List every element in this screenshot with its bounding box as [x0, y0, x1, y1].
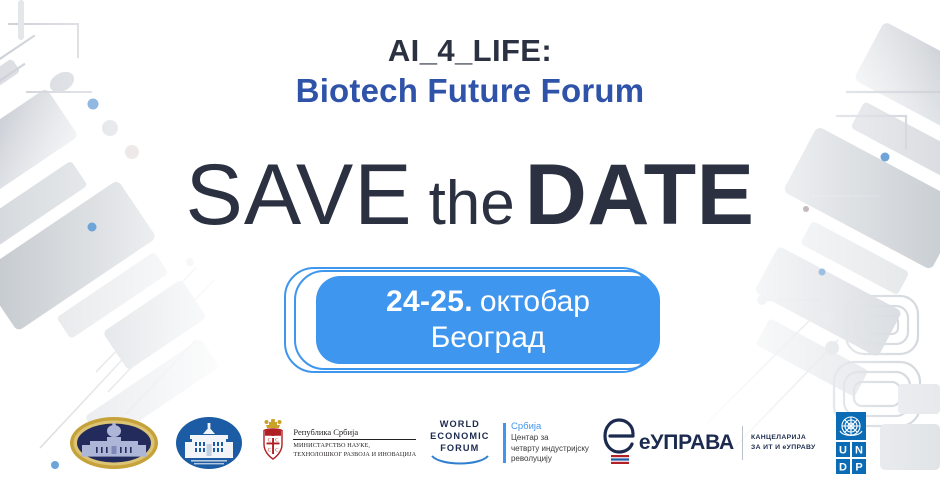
euprava-block: еУПРАВА КАНЦЕЛАРИЈА ЗА ИТ И еУПРАВУ [603, 418, 816, 468]
logo-government-building [174, 410, 244, 476]
logo-euprava: еУПРАВА КАНЦЕЛАРИЈА ЗА ИТ И еУПРАВУ [603, 410, 816, 476]
event-date-badge: 24-25.октобар Београд [284, 264, 664, 376]
c4ir-country: Србија [511, 421, 589, 433]
save-the-date-headline: SAVEtheDATE [0, 146, 940, 245]
wef-line-2: ECONOMIC [430, 431, 489, 443]
partner-logos: C C C C Република Србија МИНИСТАРСТВО НА… [0, 407, 940, 479]
c4ir-name-2: четврту индустријску [511, 444, 589, 455]
the-word: the [429, 169, 515, 238]
undp-letter-u: U [839, 445, 847, 457]
undp-letter-d: D [839, 462, 847, 474]
event-title-secondary: Biotech Future Forum [0, 73, 940, 110]
accent-dot [819, 269, 826, 276]
un-emblem-icon: U N D P [830, 412, 872, 474]
badge-month: октобар [480, 285, 590, 318]
event-title-primary: AI_4_LIFE: [0, 34, 940, 69]
c4ir-accent-bar [503, 423, 506, 463]
c4ir-name-1: Центар за [511, 433, 589, 444]
logo-undp: U N D P [830, 410, 872, 476]
logo-ministry-of-science: C C C C Република Србија МИНИСТАРСТВО НА… [258, 410, 416, 476]
office-line-1: КАНЦЕЛАРИЈА [751, 433, 816, 443]
badge-days: 24-25. [386, 285, 473, 318]
c4ir-text: Србија Центар за четврту индустријску ре… [511, 423, 589, 463]
c4ir-name-3: револуцију [511, 454, 589, 465]
wef-wordmark: WORLD ECONOMIC FORUM [430, 419, 489, 466]
logo-divider [742, 426, 743, 460]
ministry-country: Република Србија [293, 427, 416, 440]
event-headline: AI_4_LIFE: Biotech Future Forum [0, 34, 940, 110]
parliament-building-oval-emblem-icon [68, 414, 160, 472]
stylized-e-logo-icon [603, 418, 637, 468]
c4ir-block: Србија Центар за четврту индустријску ре… [503, 423, 588, 463]
euprava-wordmark: еУПРАВА [639, 431, 734, 455]
blue-swoosh-arc-icon [431, 455, 489, 467]
logo-c4ir-serbia: Србија Центар за четврту индустријску ре… [503, 410, 588, 476]
undp-letter-n: N [855, 445, 863, 457]
save-word: SAVE [186, 147, 413, 243]
badge-body: 24-25.октобар Београд [316, 276, 660, 364]
badge-date-line: 24-25.октобар [386, 285, 590, 319]
undp-letter-p: P [855, 462, 862, 474]
serbian-coat-of-arms-icon: C C C C [258, 419, 288, 467]
white-building-oval-emblem-icon [174, 414, 244, 472]
badge-city: Београд [431, 321, 546, 355]
office-text: КАНЦЕЛАРИЈА ЗА ИТ И еУПРАВУ [751, 433, 816, 452]
wef-line-3: FORUM [440, 443, 479, 455]
save-the-date-banner: AI_4_LIFE: Biotech Future Forum SAVEtheD… [0, 0, 940, 493]
ministry-text-block: Република Србија МИНИСТАРСТВО НАУКЕ, ТЕХ… [293, 427, 416, 459]
office-line-2: ЗА ИТ И еУПРАВУ [751, 443, 816, 453]
wef-line-1: WORLD [440, 419, 480, 431]
logo-world-economic-forum: WORLD ECONOMIC FORUM [430, 410, 489, 476]
ministry-name: МИНИСТАРСТВО НАУКЕ, ТЕХНОЛОШКОГ РАЗВОЈА … [293, 440, 416, 459]
logo-city-of-belgrade [68, 410, 160, 476]
date-word: DATE [525, 147, 755, 243]
